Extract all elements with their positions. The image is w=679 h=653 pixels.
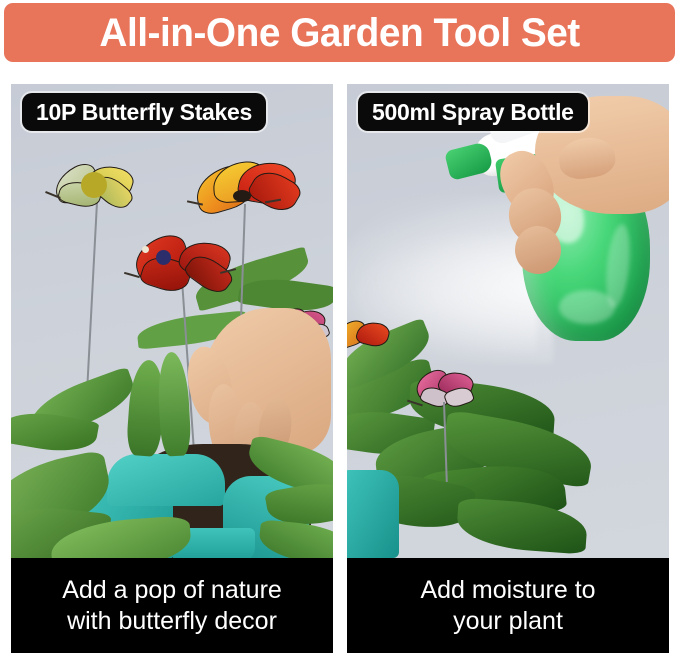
teal-planter [347, 470, 399, 558]
bottle-highlight [559, 290, 615, 324]
leaf [455, 498, 588, 555]
panel-label-spray-bottle: 500ml Spray Bottle [358, 93, 588, 131]
panel-caption-text: Add a pop of nature with butterfly decor [56, 575, 288, 636]
panel-label-text: 10P Butterfly Stakes [36, 101, 252, 124]
panel-label-butterfly-stakes: 10P Butterfly Stakes [22, 93, 266, 131]
product-panel-butterfly-stakes: 10P Butterfly Stakes Add a pop of nature… [11, 84, 333, 653]
header-title: All-in-One Garden Tool Set [99, 13, 579, 53]
product-photo-spray-bottle [347, 84, 669, 558]
panel-caption-butterfly-stakes: Add a pop of nature with butterfly decor [11, 558, 333, 653]
panel-caption-spray-bottle: Add moisture to your plant [347, 558, 669, 653]
header-banner: All-in-One Garden Tool Set [4, 3, 675, 62]
panel-label-text: 500ml Spray Bottle [372, 101, 574, 124]
product-photo-butterfly-stakes [11, 84, 333, 558]
panel-caption-text: Add moisture to your plant [414, 575, 601, 636]
product-panel-spray-bottle: 500ml Spray Bottle Add moisture to your … [347, 84, 669, 653]
teal-planter [107, 454, 225, 506]
